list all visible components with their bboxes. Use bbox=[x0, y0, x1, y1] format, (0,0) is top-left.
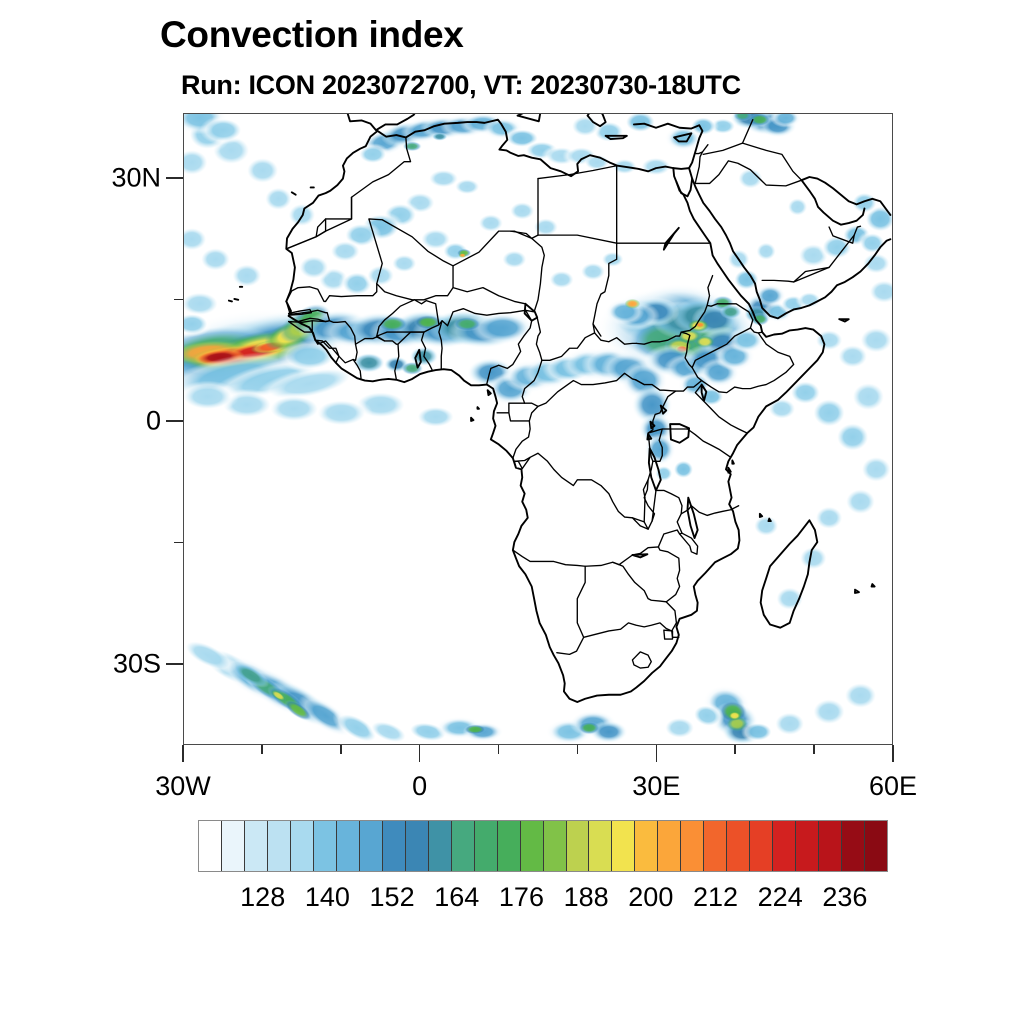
colorbar-cell bbox=[475, 821, 498, 871]
x-major-tick bbox=[892, 745, 894, 762]
map-plot-area bbox=[183, 113, 893, 745]
y-major-tick bbox=[166, 177, 183, 179]
coastline-and-border-overlay bbox=[184, 114, 892, 744]
x-axis-label: 30E bbox=[632, 773, 680, 800]
figure-title: Convection index bbox=[160, 16, 464, 53]
y-major-tick bbox=[166, 420, 183, 422]
x-minor-tick bbox=[340, 745, 342, 754]
x-major-tick bbox=[656, 745, 658, 762]
colorbar-tick-label: 164 bbox=[434, 884, 479, 911]
colorbar-cell bbox=[842, 821, 865, 871]
colorbar-cell bbox=[796, 821, 819, 871]
x-minor-tick bbox=[577, 745, 579, 754]
colorbar-cell bbox=[360, 821, 383, 871]
colorbar-tick-label: 212 bbox=[693, 884, 738, 911]
colorbar-cell bbox=[773, 821, 796, 871]
x-minor-tick bbox=[498, 745, 500, 754]
colorbar-cell bbox=[727, 821, 750, 871]
figure-subtitle: Run: ICON 2023072700, VT: 20230730-18UTC bbox=[181, 72, 741, 99]
x-minor-tick bbox=[734, 745, 736, 754]
figure-canvas: Convection index Run: ICON 2023072700, V… bbox=[0, 0, 1024, 1024]
colorbar-cell bbox=[452, 821, 475, 871]
colorbar-tick-label: 176 bbox=[499, 884, 544, 911]
colorbar-cell bbox=[704, 821, 727, 871]
x-major-tick bbox=[182, 745, 184, 762]
colorbar-cell bbox=[314, 821, 337, 871]
colorbar-cell bbox=[383, 821, 406, 871]
y-axis-label: 30S bbox=[113, 650, 161, 677]
colorbar-cell bbox=[521, 821, 544, 871]
colorbar-cell bbox=[819, 821, 842, 871]
x-major-tick bbox=[419, 745, 421, 762]
colorbar-tick-label: 140 bbox=[305, 884, 350, 911]
y-axis-label: 0 bbox=[146, 407, 161, 434]
colorbar-cell bbox=[245, 821, 268, 871]
colorbar-cell bbox=[498, 821, 521, 871]
colorbar-cell bbox=[337, 821, 360, 871]
colorbar-cell bbox=[567, 821, 590, 871]
x-minor-tick bbox=[813, 745, 815, 754]
colorbar[interactable] bbox=[198, 820, 888, 872]
colorbar-cell bbox=[681, 821, 704, 871]
colorbar-cell bbox=[750, 821, 773, 871]
colorbar-tick-label: 128 bbox=[240, 884, 285, 911]
colorbar-cell bbox=[406, 821, 429, 871]
colorbar-cell bbox=[612, 821, 635, 871]
y-minor-tick bbox=[174, 542, 183, 544]
y-axis-label: 30N bbox=[111, 164, 161, 191]
colorbar-tick-label: 200 bbox=[628, 884, 673, 911]
colorbar-tick-label: 152 bbox=[370, 884, 415, 911]
map-clip bbox=[184, 114, 892, 744]
y-minor-tick bbox=[174, 299, 183, 301]
colorbar-tick-label: 188 bbox=[564, 884, 609, 911]
x-axis-label: 0 bbox=[412, 773, 427, 800]
colorbar-cell bbox=[658, 821, 681, 871]
colorbar-cell bbox=[199, 821, 222, 871]
colorbar-cell bbox=[865, 821, 887, 871]
colorbar-cell bbox=[635, 821, 658, 871]
colorbar-cell bbox=[222, 821, 245, 871]
x-axis-label: 60E bbox=[869, 773, 917, 800]
colorbar-cell bbox=[268, 821, 291, 871]
colorbar-tick-label: 224 bbox=[758, 884, 803, 911]
x-axis-label: 30W bbox=[155, 773, 211, 800]
x-minor-tick bbox=[261, 745, 263, 754]
colorbar-tick-label: 236 bbox=[822, 884, 867, 911]
colorbar-cell bbox=[589, 821, 612, 871]
y-major-tick bbox=[166, 663, 183, 665]
colorbar-cell bbox=[429, 821, 452, 871]
colorbar-cell bbox=[291, 821, 314, 871]
colorbar-cell bbox=[544, 821, 567, 871]
